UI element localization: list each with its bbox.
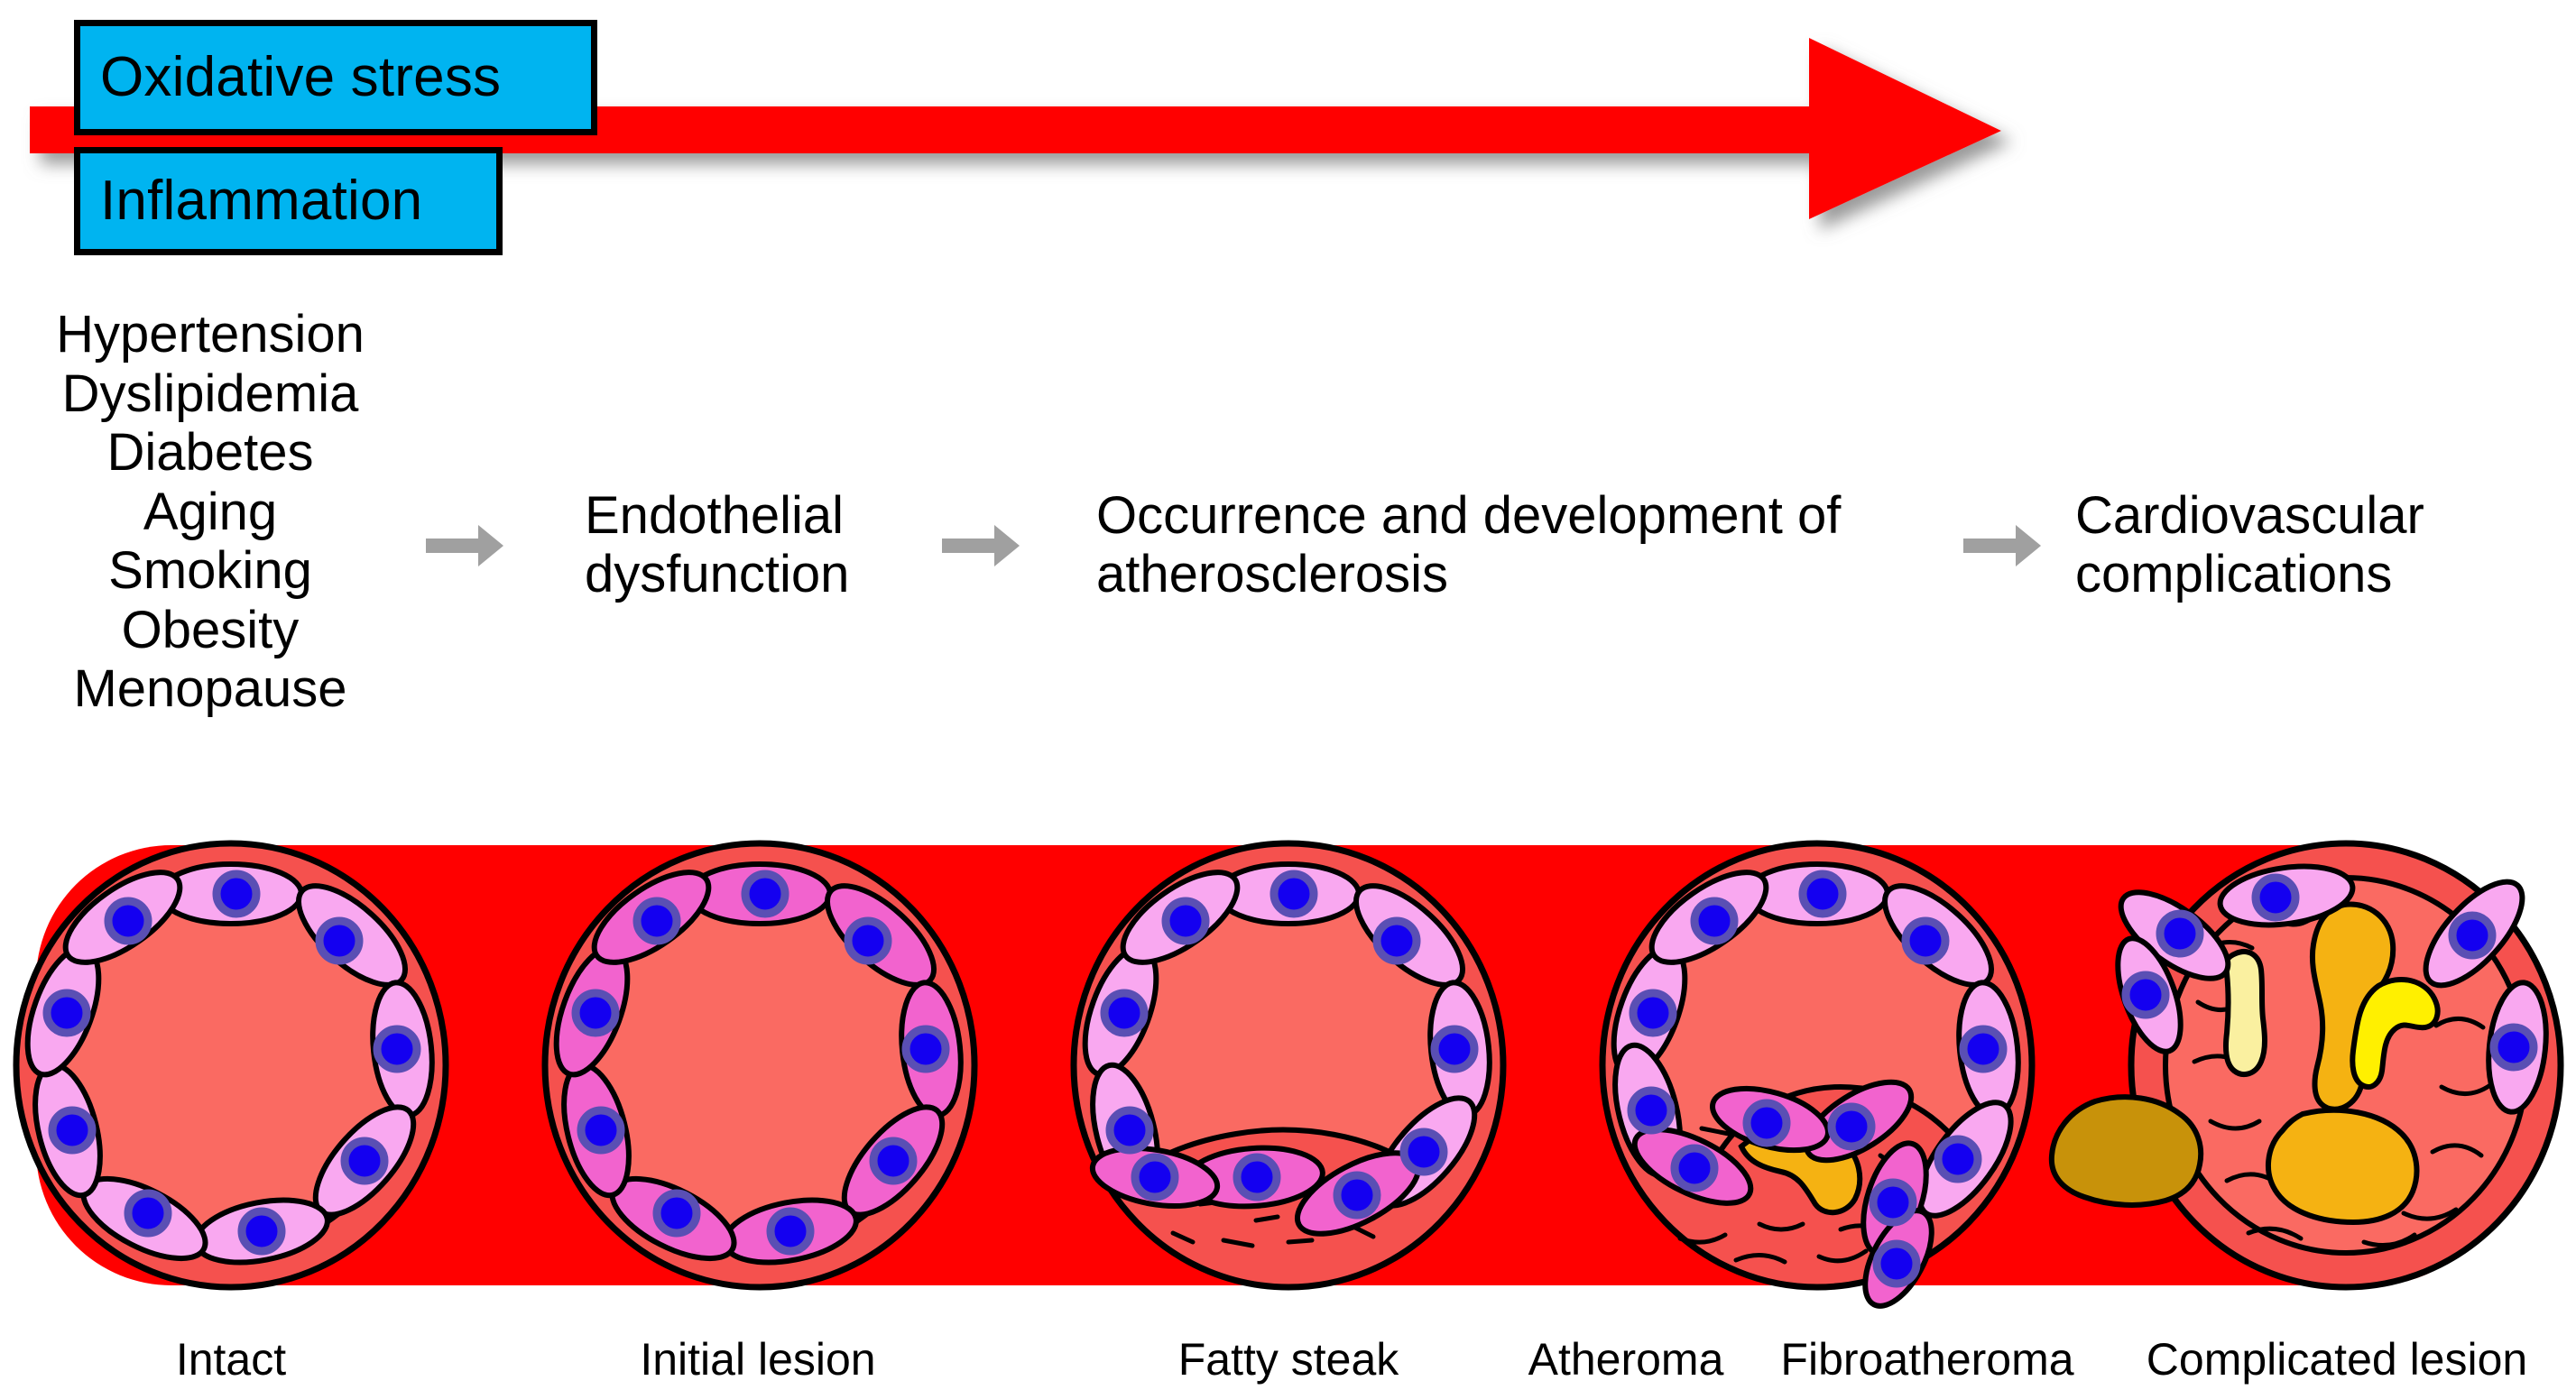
lipid-deposit-brown bbox=[2052, 1097, 2201, 1205]
flow-step-atherosclerosis: Occurrence and development of atheroscle… bbox=[1096, 487, 1944, 604]
flow-step-line: Endothelial bbox=[585, 487, 946, 546]
risk-factor-item: Menopause bbox=[16, 659, 404, 719]
risk-factor-item: Obesity bbox=[16, 601, 404, 660]
flow-step-line: atherosclerosis bbox=[1096, 546, 1944, 604]
lipid-deposit-gold-lower bbox=[2268, 1110, 2416, 1222]
caption-fibroatheroma: Fibroatheroma bbox=[1765, 1333, 2090, 1385]
caption-intact: Intact bbox=[123, 1333, 339, 1385]
risk-factor-list: Hypertension Dyslipidemia Diabetes Aging… bbox=[16, 305, 404, 719]
caption-initial-lesion: Initial lesion bbox=[623, 1333, 893, 1385]
flow-step-line: Cardiovascular bbox=[2075, 487, 2544, 546]
risk-factor-item: Smoking bbox=[16, 541, 404, 601]
flow-step-line: Occurrence and development of bbox=[1096, 487, 1944, 546]
flow-step-line: complications bbox=[2075, 546, 2544, 604]
vessel-stage-initial-lesion bbox=[542, 843, 974, 1287]
vessel-stage-fatty-steak bbox=[1071, 843, 1503, 1287]
flow-arrow-2-icon bbox=[942, 521, 1020, 570]
oxidative-stress-label: Oxidative stress bbox=[100, 50, 501, 106]
caption-fatty-steak: Fatty steak bbox=[1162, 1333, 1415, 1385]
risk-factor-item: Hypertension bbox=[16, 305, 404, 364]
flow-step-cardiovascular-complications: Cardiovascular complications bbox=[2075, 487, 2544, 604]
vessel-stage-intact bbox=[14, 843, 446, 1287]
flow-arrow-3-icon bbox=[1963, 521, 2041, 570]
flow-arrow-1-icon bbox=[426, 521, 503, 570]
lipid-deposit-cream bbox=[2226, 952, 2265, 1074]
oxidative-stress-box: Oxidative stress bbox=[74, 20, 597, 135]
inflammation-label: Inflammation bbox=[100, 173, 422, 229]
caption-atheroma: Atheroma bbox=[1509, 1333, 1743, 1385]
inflammation-box: Inflammation bbox=[74, 147, 503, 255]
flow-step-endothelial-dysfunction: Endothelial dysfunction bbox=[585, 487, 946, 604]
vessel-progression-illustration bbox=[0, 816, 2576, 1321]
risk-factor-item: Aging bbox=[16, 483, 404, 542]
flow-step-line: dysfunction bbox=[585, 546, 946, 604]
risk-factor-item: Dyslipidemia bbox=[16, 364, 404, 424]
caption-complicated-lesion: Complicated lesion bbox=[2129, 1333, 2544, 1385]
risk-factor-item: Diabetes bbox=[16, 423, 404, 483]
